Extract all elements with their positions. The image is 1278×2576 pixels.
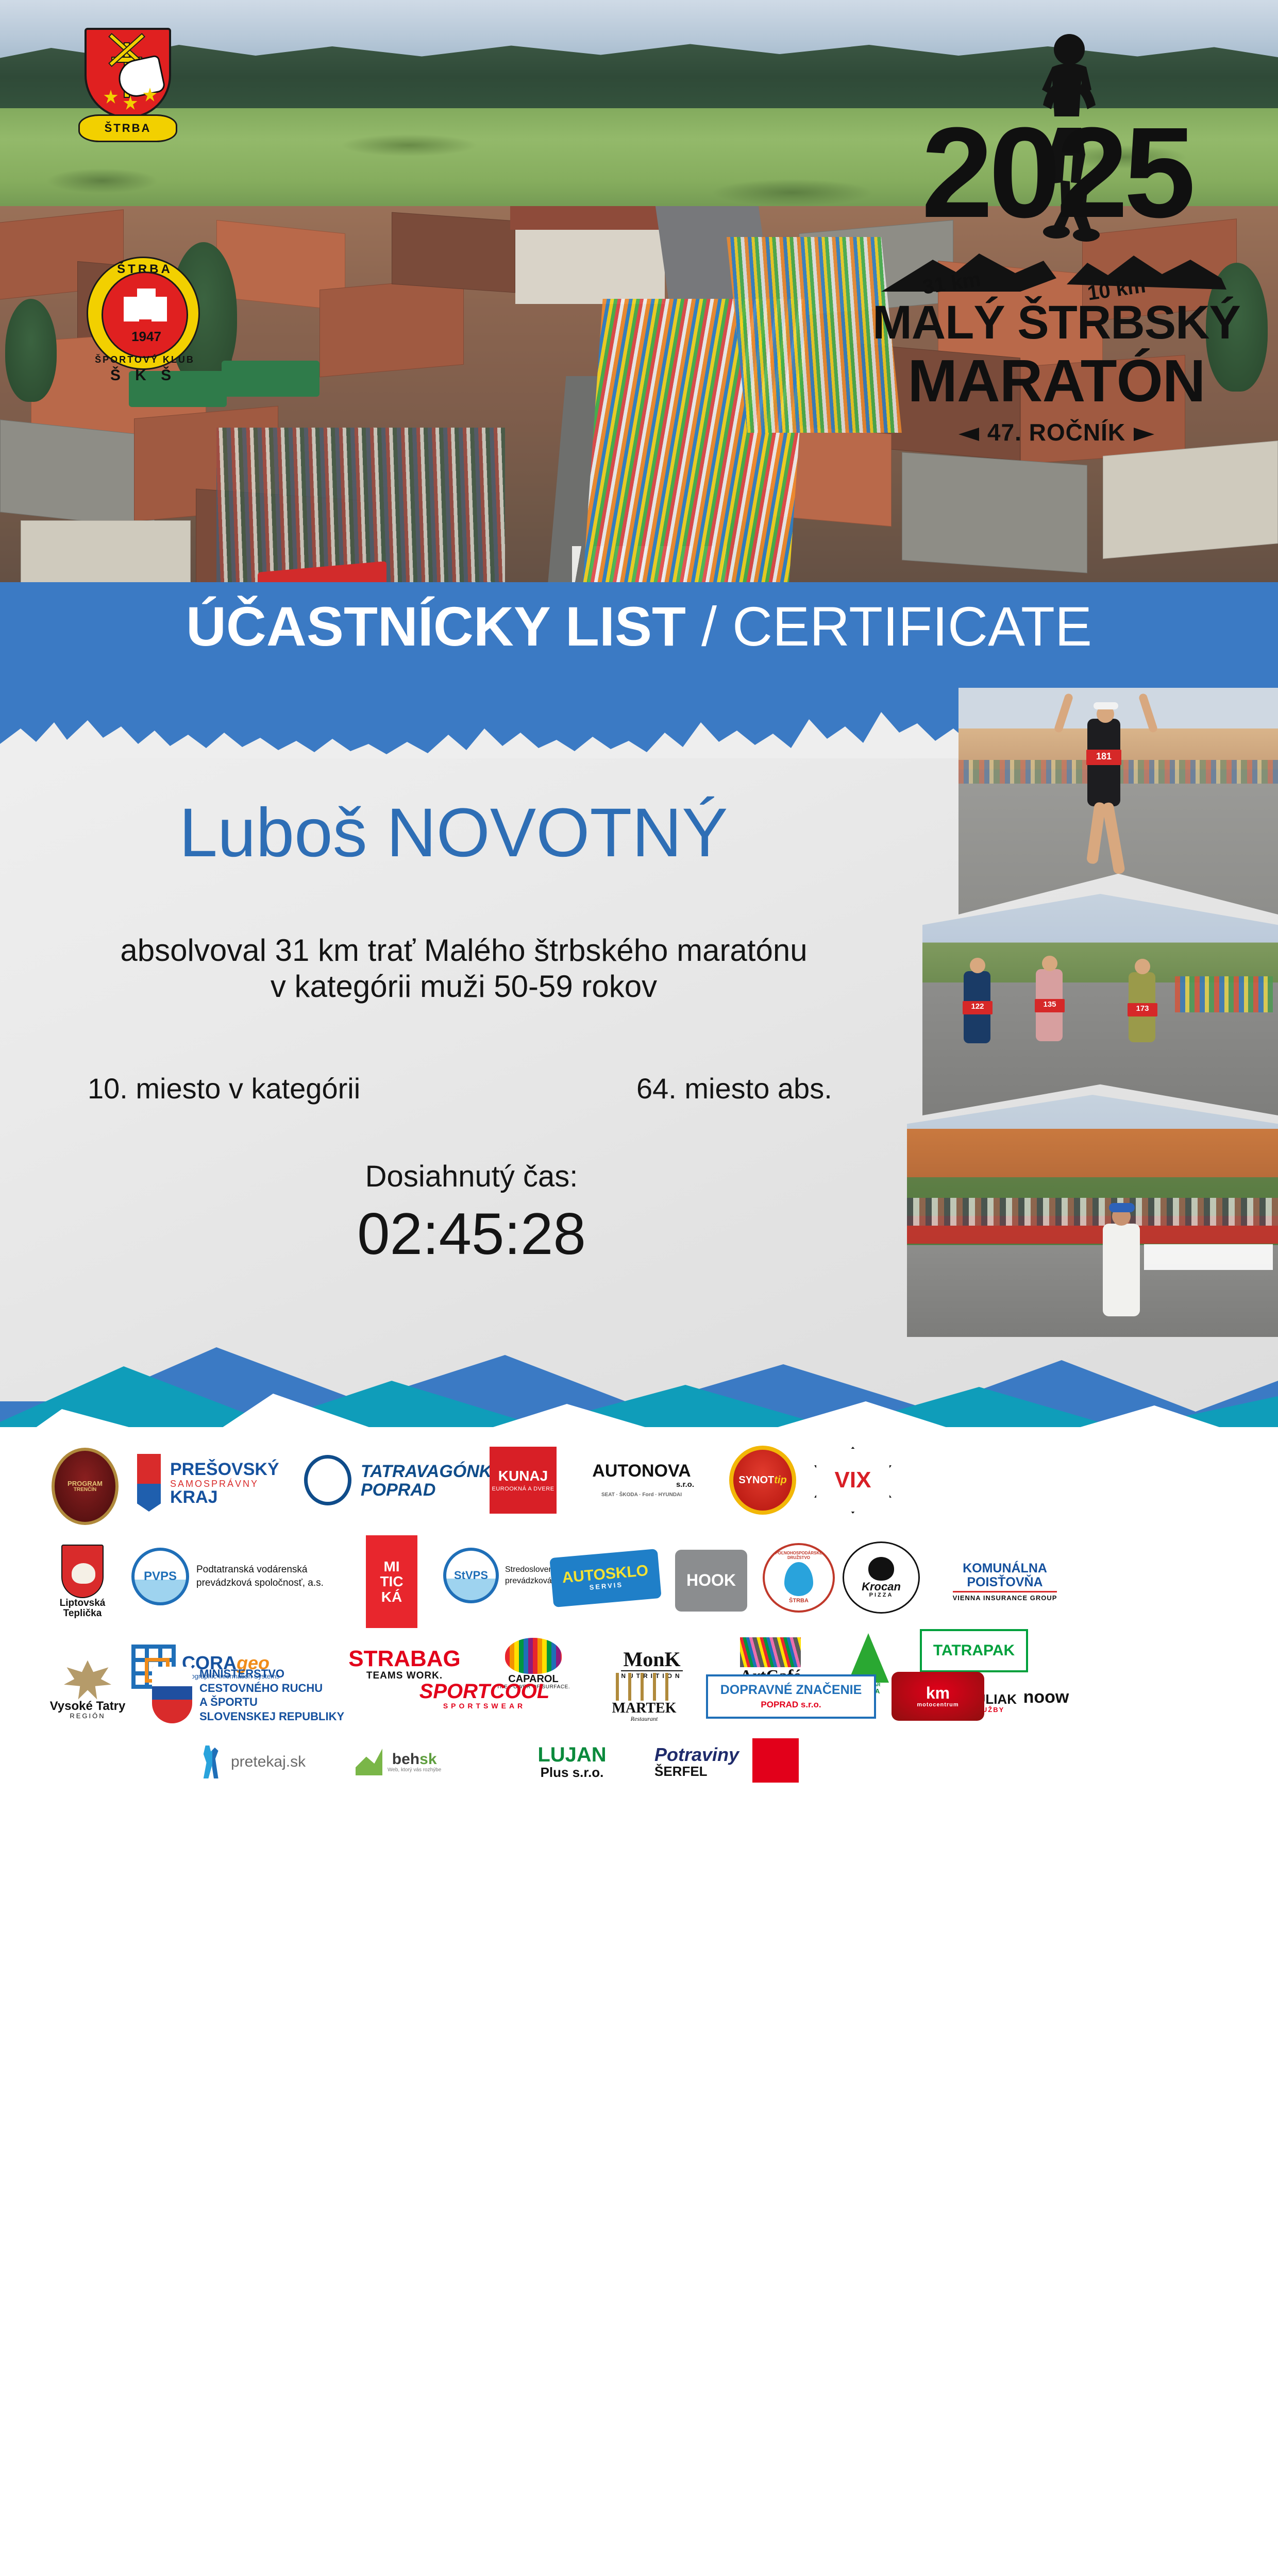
coa-name: ŠTRBA — [80, 116, 176, 141]
bib-number: 135 — [1035, 999, 1065, 1012]
sponsor-logo-liptovska-teplicka: LiptovskáTeplička — [52, 1540, 113, 1623]
water-drop-icon — [784, 1562, 813, 1596]
sponsor-logo-vysoke-tatry: Vysoké TatryREGIÓN — [46, 1649, 129, 1731]
bib-number: 181 — [1086, 750, 1121, 765]
sponsor-logo-ministerstvo: MINISTERSTVO CESTOVNÉHO RUCHU A ŠPORTU S… — [152, 1654, 379, 1736]
sponsor-logo-potraviny-serfel: PotravinyŠERFEL — [654, 1736, 799, 1788]
event-logo: 2025 31 km 10 km MALÝ ŠTRBSKÝ MARATÓN 47… — [866, 31, 1247, 459]
collage-photo-finisher: 181 — [959, 688, 1278, 914]
sponsor-logo-martek-restaurant: MARTEKRestaurant — [590, 1667, 698, 1728]
psk-flag-icon — [137, 1454, 161, 1512]
time-label: Dosiahnutý čas: — [0, 1159, 943, 1194]
sponsor-logo-pretekaj-sk: pretekaj.sk — [201, 1741, 325, 1783]
sponsor-logo-tatravagonka: TATRAVAGÓNKA POPRAD — [304, 1453, 464, 1510]
serfel-red-box — [752, 1738, 799, 1783]
bib-number: 122 — [963, 1001, 993, 1014]
category-place: 10. miesto v kategórii — [88, 1072, 360, 1105]
description-line-2: v kategórii muži 50-59 rokov — [0, 969, 928, 1004]
sponsor-logo-vix: VIX — [814, 1447, 892, 1514]
sponsor-logo-miticka: MITICKÁ — [366, 1535, 417, 1628]
sponsor-logo-program-trencin: PROGRAMTRENČÍN — [52, 1448, 119, 1525]
slovak-coat-of-arms-icon — [152, 1667, 192, 1723]
event-edition: 47. ROČNÍK — [866, 418, 1247, 446]
sponsor-logo-beh-sk: behskWeb, ktorý vás rozhýbe — [356, 1741, 484, 1783]
sks-bottom-text: ŠPORTOVÝ KLUB — [88, 354, 201, 365]
sponsor-logo-dopravne-znacenie: DOPRAVNÉ ZNAČENIEPOPRAD s.r.o. — [706, 1674, 876, 1719]
coa-ribbon: ŠTRBA — [78, 114, 177, 142]
event-title-line1: MALÝ ŠTRBSKÝ — [866, 299, 1247, 347]
swoosh-icon — [356, 1749, 382, 1775]
event-year: 2025 — [866, 108, 1247, 237]
sponsor-logo-kunaj: KUNAJEUROOKNÁ A DVERE — [490, 1447, 557, 1514]
sponsor-logo-sportcool: SPORTCOOLSPORTSWEAR — [407, 1667, 562, 1723]
photo-collage: 181 122 135 173 — [897, 688, 1278, 1337]
title-english: / CERTIFICATE — [686, 595, 1092, 657]
sponsor-logo-krocan-pizza: Krocan PIZZA — [843, 1541, 920, 1614]
sks-club-emblem: ŠTRBA 1947 ŠPORTOVÝ KLUB — [87, 257, 200, 370]
participant-name: Luboš NOVOTNÝ — [0, 793, 907, 872]
sponsor-logo-lujan-plus: LUJANPlus s.r.o. — [515, 1736, 629, 1788]
sponsor-logo-tatrapak: TATRAPAK — [920, 1629, 1028, 1672]
headband — [1109, 1203, 1135, 1212]
collage-photo-runners: 122 135 173 — [922, 894, 1278, 1115]
turkey-icon — [868, 1557, 894, 1581]
tatravagonka-mark — [304, 1455, 351, 1505]
event-title-line2: MARATÓN — [866, 350, 1247, 411]
strba-coat-of-arms: ŠTRBA — [78, 24, 177, 142]
description-line-1: absolvoval 31 km trať Malého štrbského m… — [0, 933, 928, 968]
distance-mountains: 31 km 10 km — [866, 242, 1247, 304]
sponsor-logo-komunalna-poistovna: KOMUNÁLNAPOISŤOVŇA VIENNA INSURANCE GROU… — [938, 1553, 1072, 1610]
bib-number: 173 — [1128, 1003, 1157, 1016]
sponsor-grid: PROGRAMTRENČÍN PREŠOVSKÝ SAMOSPRÁVNY KRA… — [36, 1432, 912, 1752]
sponsor-logo-autosklo-servis: AUTOSKLOSERVIS — [549, 1549, 662, 1607]
sks-year: 1947 — [103, 329, 190, 345]
sponsor-logo-noow: noow — [1005, 1674, 1087, 1721]
tent-green — [222, 361, 320, 397]
title-slovak: ÚČASTNÍCKY LIST — [186, 595, 686, 657]
absolute-place: 64. miesto abs. — [636, 1072, 832, 1105]
autonova-brands: SEAT · ŠKODA · Ford · HYUNDAI — [601, 1493, 682, 1498]
cutlery-icon — [616, 1673, 672, 1701]
sponsor-logo-presovsky-kraj: PREŠOVSKÝ SAMOSPRÁVNY KRAJ — [139, 1453, 283, 1515]
sponsor-section: PROGRAMTRENČÍN PREŠOVSKÝ SAMOSPRÁVNY KRA… — [0, 1427, 1278, 1807]
header-photo: ŠTART ŠTRBA ŠTRBA — [0, 0, 1278, 587]
sponsor-logo-hook: HOOK — [675, 1550, 747, 1612]
mountain-icon — [124, 289, 169, 327]
sponsor-logo-km-motocentrum: kmmotocentrum — [892, 1672, 984, 1721]
artcafe-bars-icon — [740, 1637, 801, 1667]
sponsor-logo-pvps: PVPS Podtatranská vodárenskáprevádzková … — [131, 1546, 343, 1607]
runners-icon — [201, 1745, 226, 1778]
sponsor-logo-synot-tip: SYNOTtip — [729, 1446, 796, 1515]
finish-time: 02:45:28 — [0, 1200, 943, 1268]
visor-cap — [1094, 702, 1118, 709]
tree — [5, 299, 57, 402]
finisher-body — [1103, 1224, 1140, 1316]
sks-initials: Š K Š — [87, 367, 200, 384]
sponsor-logo-pd-strba: POĽNOHOSPODÁRSKE DRUŽSTVO ŠTRBA — [763, 1543, 835, 1613]
collage-photo-finish-line — [907, 1095, 1278, 1337]
sponsor-logo-autonova: AUTONOVA s.r.o. SEAT · ŠKODA · Ford · HY… — [575, 1447, 709, 1514]
certificate-title: ÚČASTNÍCKY LIST / CERTIFICATE — [0, 599, 1278, 654]
teplicka-shield-icon — [61, 1545, 104, 1598]
edelweiss-icon — [64, 1660, 111, 1700]
spectators — [216, 428, 505, 582]
